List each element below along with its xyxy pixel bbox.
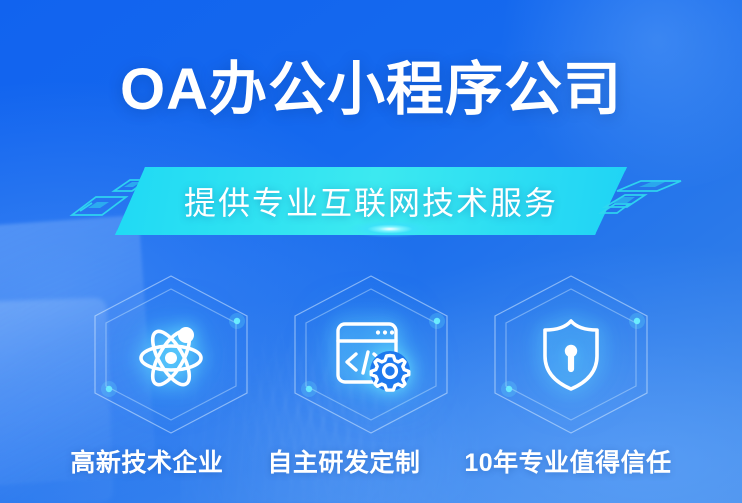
feature-item-1[interactable] — [287, 272, 455, 437]
feature-list — [0, 272, 742, 437]
subtitle-banner: 提供专业互联网技术服务 — [0, 167, 742, 241]
promo-banner: OA办公小程序公司 提供专业互联网技术服务 — [0, 0, 742, 503]
feature-label-row: 高新技术企业 自主研发定制 10年专业值得信任 — [0, 443, 742, 479]
atom-icon — [128, 312, 214, 398]
feature-item-2[interactable] — [487, 272, 655, 437]
feature-label-2: 10年专业值得信任 — [464, 443, 671, 479]
code-window-gear-icon — [328, 312, 414, 398]
shield-lock-icon — [528, 312, 614, 398]
page-title: OA办公小程序公司 — [0, 58, 742, 122]
feature-item-0[interactable] — [87, 272, 255, 437]
feature-label-0: 高新技术企业 — [70, 443, 223, 479]
subtitle-text: 提供专业互联网技术服务 — [115, 167, 627, 235]
feature-label-1: 自主研发定制 — [267, 443, 420, 479]
